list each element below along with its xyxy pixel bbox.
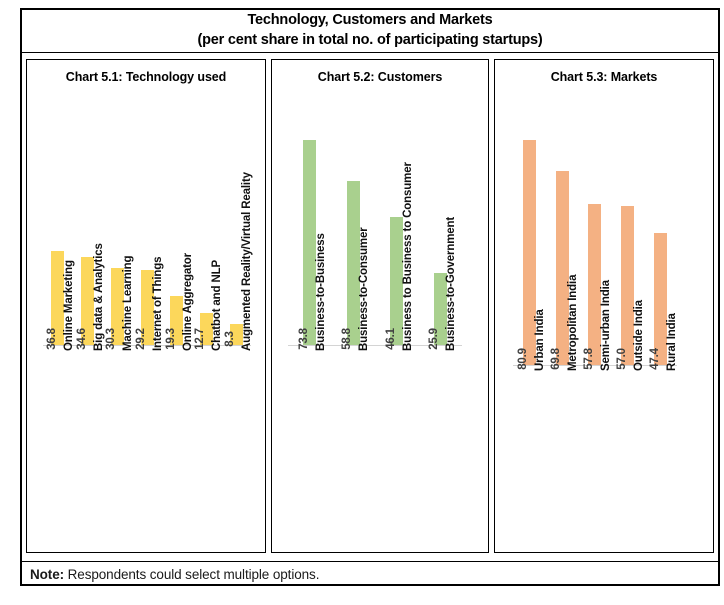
category-label: Rural India bbox=[666, 313, 678, 371]
category-label: Business-to-Business bbox=[315, 233, 327, 351]
bar-value-label: 34.6 bbox=[76, 328, 88, 350]
category-slot: Machine Learning bbox=[102, 349, 132, 549]
bar-value-label: 69.8 bbox=[550, 348, 562, 370]
category-label: Internet of Things bbox=[152, 257, 164, 351]
bar-value-label: 57.8 bbox=[583, 348, 595, 370]
category-label: Business-to-Consumer bbox=[358, 227, 370, 351]
category-slot: Big data & Analytics bbox=[73, 349, 103, 549]
category-slot: Online Marketing bbox=[43, 349, 73, 549]
chart-5-2-plot: 73.858.846.125.9Business-to-BusinessBusi… bbox=[272, 60, 488, 552]
category-label: Urban India bbox=[534, 309, 546, 371]
chart-5-1-plot: 36.834.630.329.219.312.78.3Online Market… bbox=[27, 60, 265, 552]
bar-value-label: 19.3 bbox=[165, 328, 177, 350]
bar-value-label: 30.3 bbox=[105, 328, 117, 350]
category-label: Business-to-Government bbox=[445, 217, 457, 351]
bar-value-label: 36.8 bbox=[46, 328, 58, 350]
category-slot: Semi-urban India bbox=[579, 369, 612, 553]
note-label: Note: bbox=[30, 567, 64, 582]
category-axis: Urban IndiaMetropolitan IndiaSemi-urban … bbox=[513, 369, 677, 553]
figure-title-line-1: Technology, Customers and Markets bbox=[22, 10, 718, 30]
category-slot: Business-to-Business bbox=[288, 349, 332, 549]
category-slot: Online Aggregator bbox=[162, 349, 192, 549]
category-axis: Business-to-BusinessBusiness-to-Consumer… bbox=[288, 349, 462, 549]
figure-note: Note: Respondents could select multiple … bbox=[30, 567, 319, 582]
category-label: Big data & Analytics bbox=[93, 243, 105, 351]
bar-value-label: 58.8 bbox=[341, 328, 353, 350]
category-slot: Rural India bbox=[644, 369, 677, 553]
note-divider bbox=[22, 561, 718, 562]
bar-value-label: 12.7 bbox=[194, 328, 206, 350]
category-label: Online Marketing bbox=[63, 260, 75, 351]
category-slot: Business-to-Government bbox=[419, 349, 463, 549]
chart-panel-markets: Chart 5.3: Markets 80.969.857.857.047.4U… bbox=[494, 59, 714, 553]
category-slot: Metropolitan India bbox=[546, 369, 579, 553]
charts-container: Chart 5.1: Technology used 36.834.630.32… bbox=[22, 53, 718, 556]
bar-value-label: 80.9 bbox=[517, 348, 529, 370]
category-label: Outside India bbox=[633, 300, 645, 371]
chart-panel-technology: Chart 5.1: Technology used 36.834.630.32… bbox=[26, 59, 266, 553]
chart-panel-customers: Chart 5.2: Customers 73.858.846.125.9Bus… bbox=[271, 59, 489, 553]
bar-value-label: 57.0 bbox=[616, 348, 628, 370]
figure-title: Technology, Customers and Markets (per c… bbox=[22, 10, 718, 50]
category-label: Business to Business to Consumer bbox=[402, 162, 414, 351]
category-label: Semi-urban India bbox=[600, 280, 612, 371]
note-text: Respondents could select multiple option… bbox=[64, 567, 319, 582]
bar-value-label: 29.2 bbox=[135, 328, 147, 350]
figure-title-line-2: (per cent share in total no. of particip… bbox=[22, 30, 718, 50]
category-slot: Chatbot and NLP bbox=[192, 349, 222, 549]
category-slot: Urban India bbox=[513, 369, 546, 553]
category-axis: Online MarketingBig data & AnalyticsMach… bbox=[43, 349, 251, 549]
bar-value-label: 46.1 bbox=[385, 328, 397, 350]
bar-value-label: 47.4 bbox=[649, 348, 661, 370]
bar-value-label: 25.9 bbox=[428, 328, 440, 350]
bar-value-label: 73.8 bbox=[298, 328, 310, 350]
category-label: Augmented Reality/Virtual Reality bbox=[241, 172, 253, 351]
category-slot: Business-to-Consumer bbox=[332, 349, 376, 549]
chart-5-3-plot: 80.969.857.857.047.4Urban IndiaMetropoli… bbox=[495, 60, 713, 552]
category-label: Chatbot and NLP bbox=[211, 260, 223, 351]
category-label: Metropolitan India bbox=[567, 275, 579, 371]
bar-value-label: 8.3 bbox=[224, 331, 236, 346]
category-label: Machine Learning bbox=[122, 256, 134, 351]
category-label: Online Aggregator bbox=[182, 253, 194, 351]
category-slot: Augmented Reality/Virtual Reality bbox=[221, 349, 251, 549]
category-slot: Business to Business to Consumer bbox=[375, 349, 419, 549]
figure-page: Technology, Customers and Markets (per c… bbox=[0, 0, 724, 605]
category-slot: Internet of Things bbox=[132, 349, 162, 549]
category-slot: Outside India bbox=[611, 369, 644, 553]
